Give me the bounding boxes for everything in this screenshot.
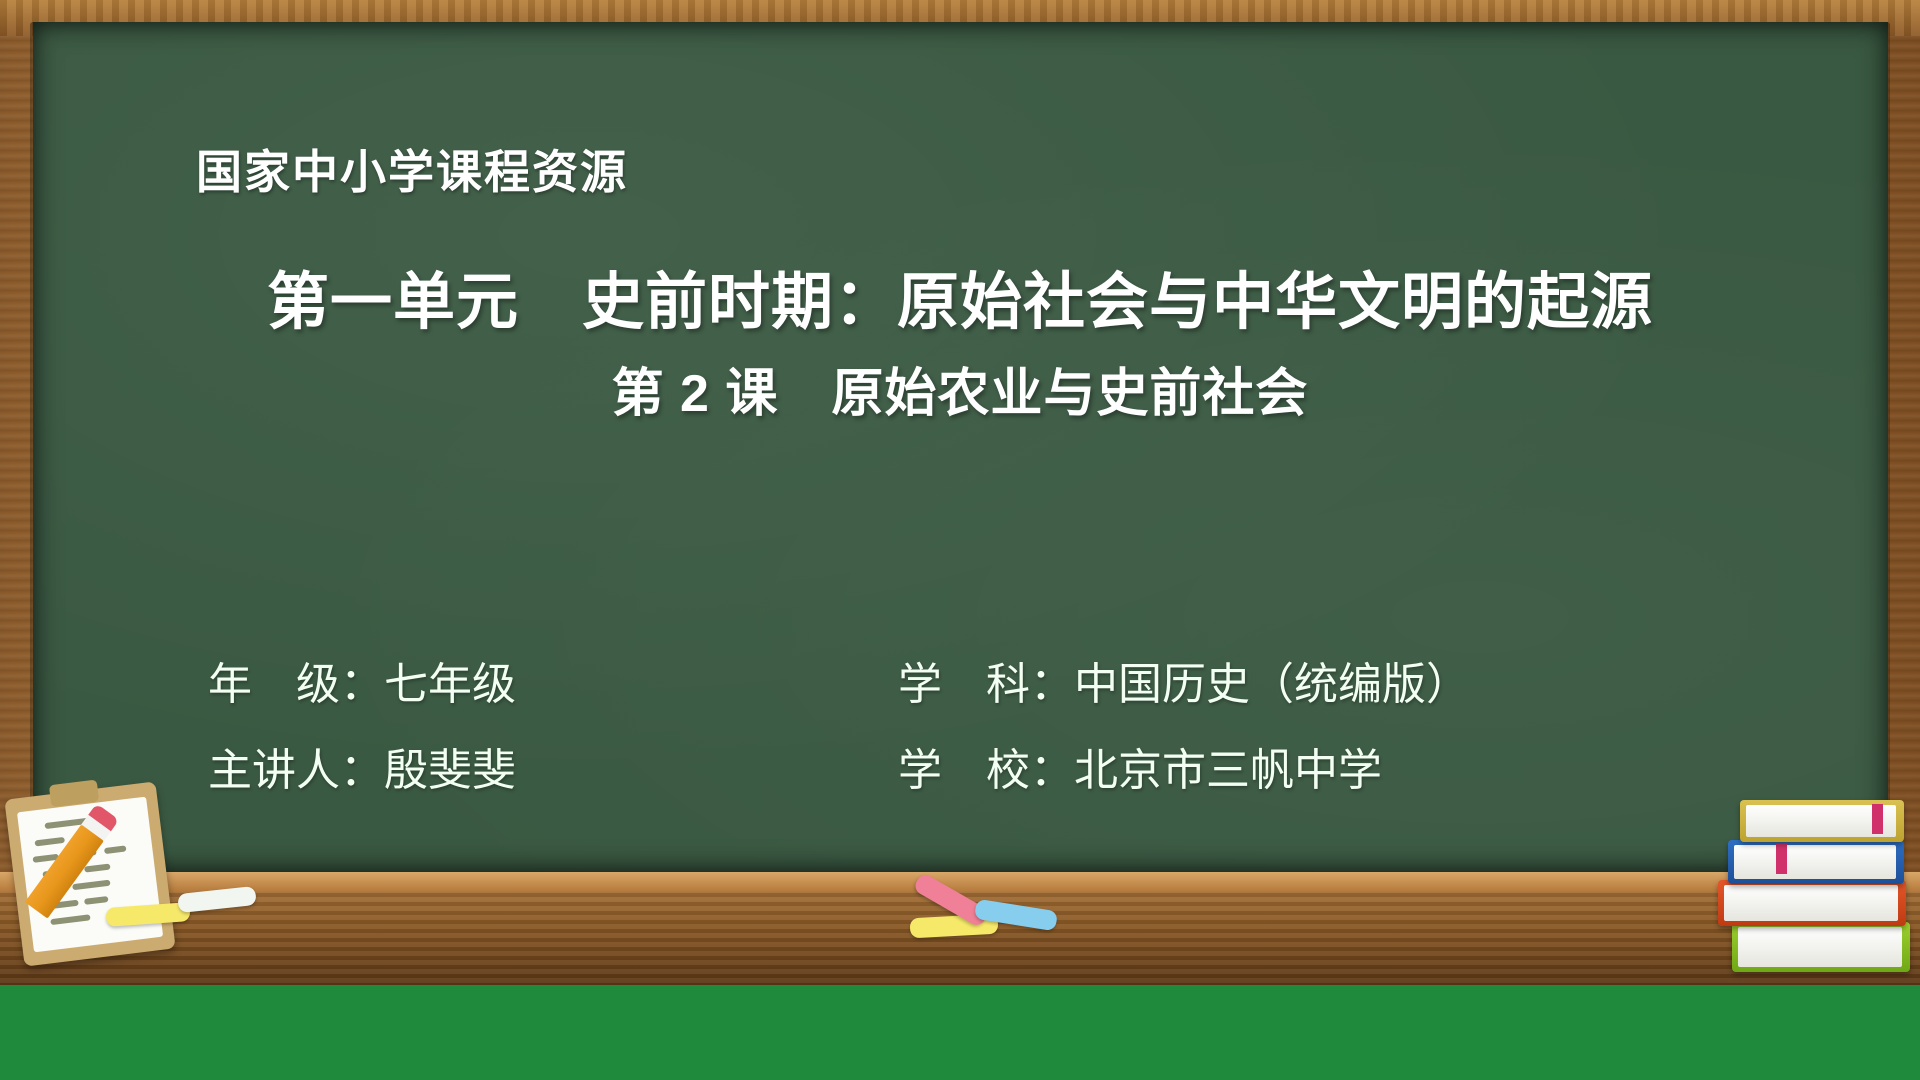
- book-pages: [1734, 845, 1896, 879]
- bookmark-icon: [1872, 804, 1883, 834]
- metadata-grid: 年 级：七年级 学 科：中国历史（统编版） 主讲人：殷斐斐 学 校：北京市三帆中…: [0, 648, 1920, 798]
- book-green: [1732, 922, 1910, 972]
- book-stack-icon: [1718, 800, 1908, 985]
- book-red: [1718, 880, 1906, 926]
- meta-label-subject: 学 科：: [898, 648, 1074, 712]
- brand-title: 国家中小学课程资源: [196, 136, 628, 202]
- meta-label-school: 学 校：: [898, 734, 1074, 798]
- title-block: 第一单元 史前时期：原始社会与中华文明的起源 第 2 课 原始农业与史前社会: [0, 268, 1920, 426]
- meta-value-subject: 中国历史（统编版）: [1074, 648, 1470, 712]
- meta-label-grade: 年 级：: [208, 648, 384, 712]
- bookmark-icon: [1776, 844, 1787, 874]
- floor-band: [0, 985, 1920, 1080]
- clipboard-icon: [4, 781, 175, 966]
- chalk-ledge-lip: [0, 872, 1920, 892]
- meta-value-presenter: 殷斐斐: [384, 734, 516, 798]
- meta-row-grade: 年 级：七年级: [208, 648, 898, 712]
- lesson-title: 第 2 课 原始农业与史前社会: [0, 351, 1920, 426]
- meta-label-presenter: 主讲人：: [208, 734, 384, 798]
- meta-row-presenter: 主讲人：殷斐斐: [208, 734, 898, 798]
- book-blue: [1728, 840, 1904, 884]
- meta-row-subject: 学 科：中国历史（统编版）: [898, 648, 1920, 712]
- unit-title: 第一单元 史前时期：原始社会与中华文明的起源: [0, 268, 1920, 337]
- book-pages: [1724, 885, 1898, 921]
- meta-value-grade: 七年级: [384, 648, 516, 712]
- meta-row-school: 学 校：北京市三帆中学: [898, 734, 1920, 798]
- book-pages: [1738, 927, 1902, 967]
- slide-stage: 国家中小学课程资源 第一单元 史前时期：原始社会与中华文明的起源 第 2 课 原…: [0, 0, 1920, 1080]
- meta-value-school: 北京市三帆中学: [1074, 734, 1382, 798]
- book-yellow: [1740, 800, 1904, 842]
